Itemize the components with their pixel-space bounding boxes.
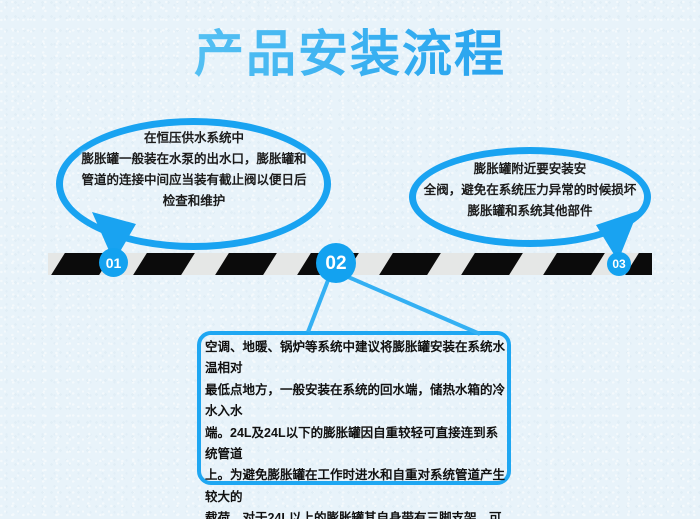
page-title: 产品安装流程 [0, 26, 700, 82]
infographic-canvas: 产品安装流程 01 02 03 在恒压供水系统中 膨胀罐一般装在水泵的出水口，膨… [0, 0, 700, 519]
callout-text-01: 在恒压供水系统中 膨胀罐一般装在水泵的出水口，膨胀罐和 管道的连接中间应当装有截… [44, 128, 344, 212]
step-marker-01[interactable]: 01 [99, 248, 128, 277]
callout-text-02: 空调、地暖、锅炉等系统中建议将膨胀罐安装在系统水温相对 最低点地方，一般安装在系… [205, 337, 505, 519]
step-marker-03[interactable]: 03 [607, 252, 631, 276]
callout-text-03: 膨胀罐附近要安装安 全阀，避免在系统压力异常的时候损坏 膨胀罐和系统其他部件 [402, 159, 658, 222]
step-marker-02[interactable]: 02 [316, 243, 356, 283]
road-stripe [213, 253, 280, 275]
